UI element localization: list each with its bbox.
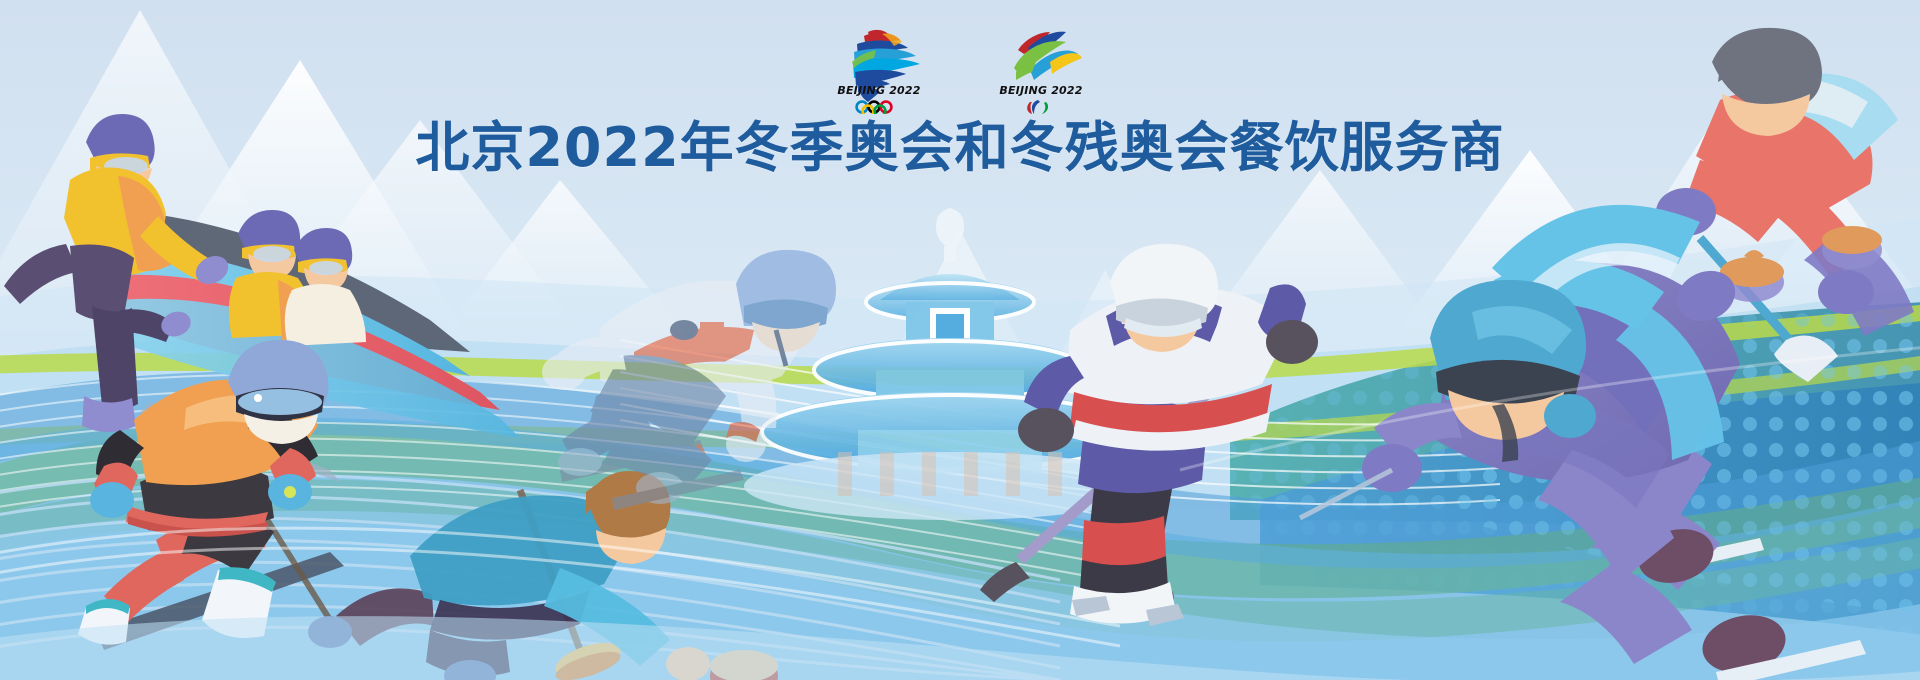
paralympic-emblem-mark [1014,32,1082,80]
agitos-icon [1027,100,1048,114]
paralympic-emblem: BEIJING 2022 [986,22,1096,114]
paralympic-wordmark: BEIJING 2022 [999,84,1082,97]
olympic-emblem: BEIJING 2022 [824,22,934,114]
beijing-2022-banner: BEIJING 2022 [0,0,1920,680]
page-title: 北京2022年冬季奥会和冬残奥会餐饮服务商 [415,118,1504,177]
title-container: 北京2022年冬季奥会和冬残奥会餐饮服务商 [0,118,1920,177]
olympic-rings-icon [857,102,892,114]
bottom-fade [0,616,1920,680]
emblem-row: BEIJING 2022 [0,22,1920,112]
olympic-wordmark: BEIJING 2022 [837,84,920,97]
gloss-curves [0,344,1920,646]
